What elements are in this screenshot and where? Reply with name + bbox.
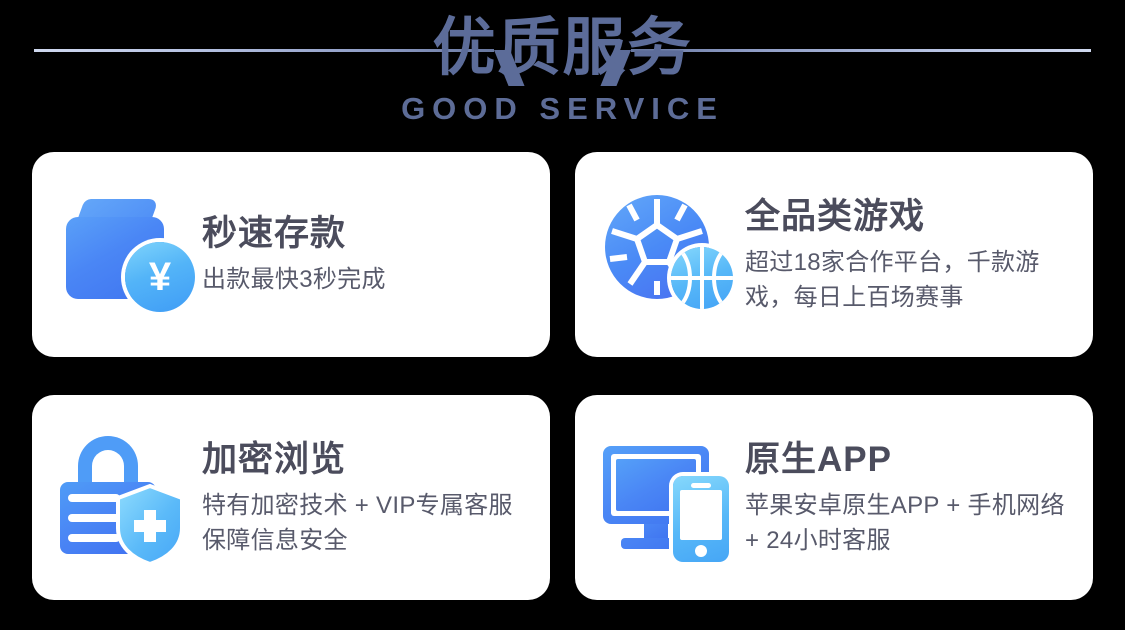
- phone-screen-icon: [680, 490, 722, 540]
- card-title: 全品类游戏: [745, 195, 1077, 239]
- card-description: 苹果安卓原生APP + 手机网络 + 24小时客服: [745, 488, 1077, 558]
- page-subtitle: GOOD SERVICE: [0, 90, 1125, 128]
- basketball-icon: [671, 247, 733, 309]
- feature-card-native-app[interactable]: 原生APP 苹果安卓原生APP + 手机网络 + 24小时客服: [575, 395, 1093, 600]
- lock-slot-icon: [68, 494, 120, 502]
- shield-plus-icon: [114, 484, 186, 566]
- page-header: 优质服务 GOOD SERVICE: [0, 0, 1125, 148]
- card-description: 特有加密技术 + VIP专属客服保障信息安全: [202, 488, 534, 558]
- feature-card-grid: ¥ 秒速存款 出款最快3秒完成: [32, 152, 1093, 600]
- soccer-basketball-icon: [595, 185, 745, 325]
- card-description: 超过18家合作平台，千款游戏，每日上百场赛事: [745, 245, 1077, 315]
- card-text-block: 加密浏览 特有加密技术 + VIP专属客服保障信息安全: [202, 438, 550, 558]
- monitor-phone-icon: [595, 428, 745, 568]
- title-block: 优质服务 GOOD SERVICE: [0, 8, 1125, 128]
- card-text-block: 原生APP 苹果安卓原生APP + 手机网络 + 24小时客服: [745, 438, 1093, 558]
- lock-slot-icon: [68, 534, 120, 542]
- card-text-block: 全品类游戏 超过18家合作平台，千款游戏，每日上百场赛事: [745, 195, 1093, 315]
- feature-card-games[interactable]: 全品类游戏 超过18家合作平台，千款游戏，每日上百场赛事: [575, 152, 1093, 357]
- card-title: 秒速存款: [202, 212, 534, 256]
- phone-home-button-icon: [695, 545, 707, 557]
- card-title: 加密浏览: [202, 438, 534, 482]
- feature-card-deposit[interactable]: ¥ 秒速存款 出款最快3秒完成: [32, 152, 550, 357]
- card-text-block: 秒速存款 出款最快3秒完成: [202, 212, 550, 297]
- card-description: 出款最快3秒完成: [202, 262, 534, 297]
- phone-speaker-icon: [691, 483, 711, 488]
- yen-symbol-icon: ¥: [125, 242, 195, 312]
- lock-slot-icon: [68, 514, 120, 522]
- lock-shield-icon: [52, 428, 202, 568]
- feature-card-encryption[interactable]: 加密浏览 特有加密技术 + VIP专属客服保障信息安全: [32, 395, 550, 600]
- page-title: 优质服务: [0, 8, 1125, 88]
- wallet-coin-icon: ¥: [52, 185, 202, 325]
- card-title: 原生APP: [745, 438, 1077, 482]
